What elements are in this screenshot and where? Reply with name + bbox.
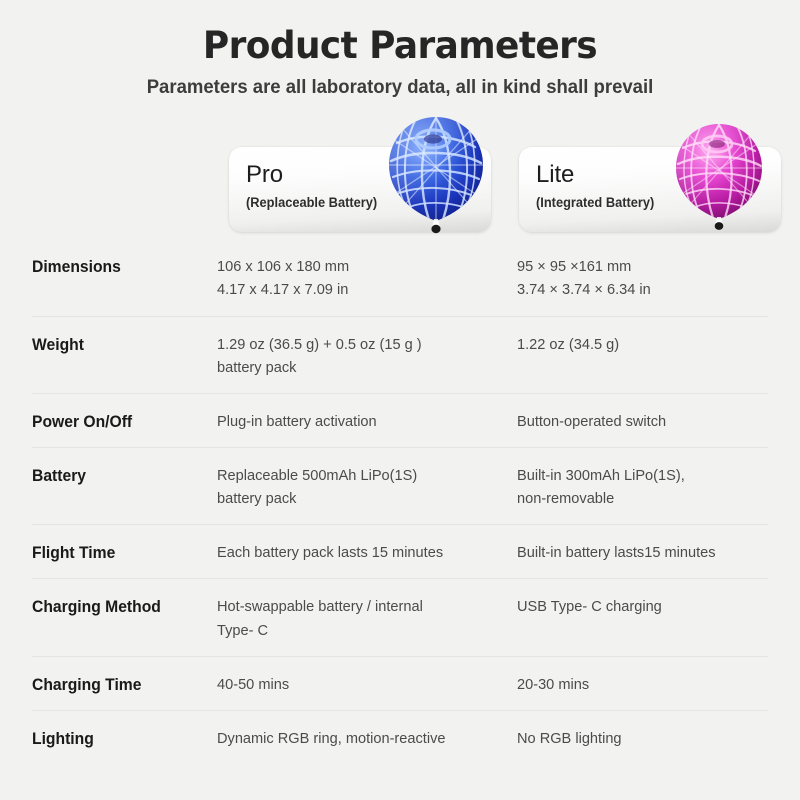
spec-value-lite: Button-operated switch — [517, 410, 757, 433]
spec-value-pro: 40-50 mins — [217, 673, 505, 696]
product-card-pro[interactable]: Pro (Replaceable Battery) — [229, 147, 491, 232]
spec-value-lite: 20-30 mins — [517, 673, 757, 696]
spec-label: Battery — [32, 464, 208, 487]
spec-value-lite: Built-in battery lasts15 minutes — [517, 541, 757, 564]
table-row: Charging Method Hot-swappable battery / … — [32, 578, 768, 655]
table-row: Flight Time Each battery pack lasts 15 m… — [32, 524, 768, 578]
spec-value-pro: 1.29 oz (36.5 g) + 0.5 oz (15 g ) batter… — [217, 333, 505, 379]
spec-label: Charging Method — [32, 595, 208, 618]
product-card-pro-text: Pro (Replaceable Battery) — [246, 163, 384, 210]
spec-label: Power On/Off — [32, 410, 208, 433]
spec-value-lite: No RGB lighting — [517, 727, 757, 750]
spec-value-pro: Each battery pack lasts 15 minutes — [217, 541, 505, 564]
spec-label: Charging Time — [32, 673, 208, 696]
spec-label: Flight Time — [32, 541, 208, 564]
table-row: Lighting Dynamic RGB ring, motion-reacti… — [32, 710, 768, 764]
spec-value-lite: USB Type- C charging — [517, 595, 757, 618]
product-card-lite[interactable]: Lite (Integrated Battery) — [519, 147, 781, 232]
table-row: Weight 1.29 oz (36.5 g) + 0.5 oz (15 g )… — [32, 316, 768, 393]
spec-label: Dimensions — [32, 255, 208, 278]
spec-label: Weight — [32, 333, 208, 356]
flying-orb-icon-pro — [377, 113, 495, 235]
page-header: Product Parameters Parameters are all la… — [0, 0, 800, 98]
spec-value-lite: Built-in 300mAh LiPo(1S), non-removable — [517, 464, 757, 510]
product-subtitle-lite: (Integrated Battery) — [536, 196, 654, 210]
table-row: Charging Time 40-50 mins 20-30 mins — [32, 656, 768, 710]
spec-value-pro: 106 x 106 x 180 mm 4.17 x 4.17 x 7.09 in — [217, 255, 505, 301]
spec-value-pro: Replaceable 500mAh LiPo(1S) battery pack — [217, 464, 505, 510]
flying-orb-icon-lite — [667, 120, 771, 232]
table-row: Dimensions 106 x 106 x 180 mm 4.17 x 4.1… — [32, 245, 768, 315]
page-subtitle: Parameters are all laboratory data, all … — [20, 77, 780, 98]
product-card-lite-text: Lite (Integrated Battery) — [536, 163, 661, 210]
spec-label: Lighting — [32, 727, 208, 750]
spec-value-lite: 95 × 95 ×161 mm 3.74 × 3.74 × 6.34 in — [517, 255, 757, 301]
page-title: Product Parameters — [12, 26, 788, 66]
product-name-lite: Lite — [536, 163, 661, 187]
product-name-pro: Pro — [246, 163, 384, 187]
spec-value-lite: 1.22 oz (34.5 g) — [517, 333, 757, 356]
spec-value-pro: Hot-swappable battery / internal Type- C — [217, 595, 505, 641]
spec-value-pro: Dynamic RGB ring, motion-reactive — [217, 727, 505, 750]
product-parameters-page: { "header": { "title": "Product Paramete… — [0, 0, 800, 800]
table-row: Battery Replaceable 500mAh LiPo(1S) batt… — [32, 447, 768, 524]
spec-table: Dimensions 106 x 106 x 180 mm 4.17 x 4.1… — [0, 245, 800, 764]
product-cards-zone: Pro (Replaceable Battery) — [0, 111, 800, 233]
product-subtitle-pro: (Replaceable Battery) — [246, 196, 377, 210]
table-row: Power On/Off Plug-in battery activation … — [32, 393, 768, 447]
spec-value-pro: Plug-in battery activation — [217, 410, 505, 433]
